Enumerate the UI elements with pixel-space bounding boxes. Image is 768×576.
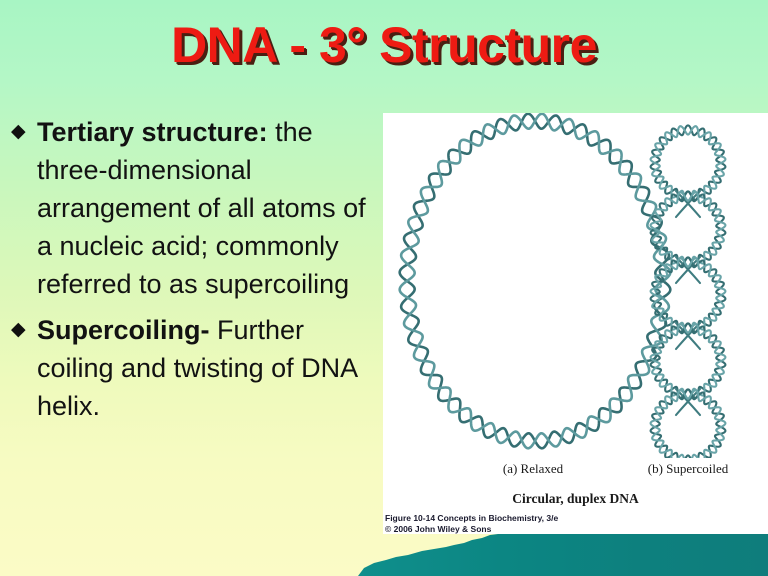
figure-caption-supercoiled: (b) Supercoiled [613,461,763,477]
bullet-lead-supercoiling: Supercoiling- [37,315,210,345]
bullet-text-tertiary-structure: Tertiary structure: the three-dimensiona… [37,113,376,303]
figure-panel: (a) Relaxed (b) Supercoiled Circular, du… [383,113,768,534]
figure-credit: Figure 10-14 Concepts in Biochemistry, 3… [385,513,558,534]
diamond-bullet-icon: ◆ [8,113,37,151]
figure-credit-line-2: © 2006 John Wiley & Sons [385,524,558,534]
bullet-item-supercoiling: ◆ Supercoiling- Further coiling and twis… [8,311,376,425]
slide-canvas: DNA - 3° Structure ◆ Tertiary structure:… [0,0,768,576]
dna-structure-illustration [383,113,768,458]
bullet-item-tertiary-structure: ◆ Tertiary structure: the three-dimensio… [8,113,376,303]
bullet-lead-tertiary-structure: Tertiary structure: [37,117,268,147]
figure-caption-main: Circular, duplex DNA [383,491,768,507]
bullet-text-supercoiling: Supercoiling- Further coiling and twisti… [37,311,376,425]
slide-title: DNA - 3° Structure [0,16,768,74]
supercoil-loop [651,389,726,458]
figure-credit-line-1: Figure 10-14 Concepts in Biochemistry, 3… [385,513,558,524]
relaxed-circular-dna [400,114,671,449]
supercoiled-dna-chain [651,125,726,458]
bullet-list: ◆ Tertiary structure: the three-dimensio… [8,113,376,433]
diamond-bullet-icon: ◆ [8,311,37,349]
figure-caption-relaxed: (a) Relaxed [433,461,633,477]
